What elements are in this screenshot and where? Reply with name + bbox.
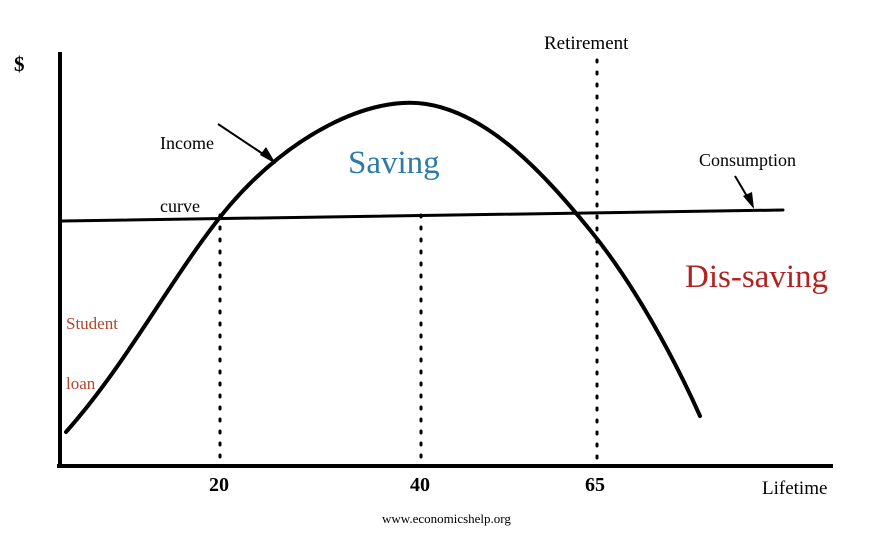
site-credit: www.economicshelp.org bbox=[382, 511, 511, 527]
x-axis-label: Lifetime bbox=[762, 478, 827, 500]
x-tick-label-40: 40 bbox=[410, 474, 430, 497]
y-axis-label: $ bbox=[14, 52, 25, 77]
x-tick-label-20: 20 bbox=[209, 474, 229, 497]
consumption-arrow bbox=[735, 176, 754, 209]
student-loan-label-line2: loan bbox=[66, 374, 118, 394]
saving-region-label: Saving bbox=[348, 145, 440, 182]
x-tick-label-65: 65 bbox=[585, 474, 605, 497]
dis-saving-region-label: Dis-saving bbox=[685, 259, 828, 296]
income-curve-label-line1: Income bbox=[160, 133, 214, 154]
income-curve-label: Income curve bbox=[160, 91, 214, 259]
student-loan-label: Student loan bbox=[66, 274, 118, 434]
consumption-label: Consumption bbox=[699, 150, 796, 171]
retirement-label: Retirement bbox=[544, 33, 628, 55]
lifecycle-income-consumption-chart: $ Lifetime 20 40 65 Income curve Retirem… bbox=[0, 0, 887, 557]
income-curve-arrow bbox=[218, 124, 276, 164]
income-curve-label-line2: curve bbox=[160, 196, 214, 217]
student-loan-label-line1: Student bbox=[66, 314, 118, 334]
